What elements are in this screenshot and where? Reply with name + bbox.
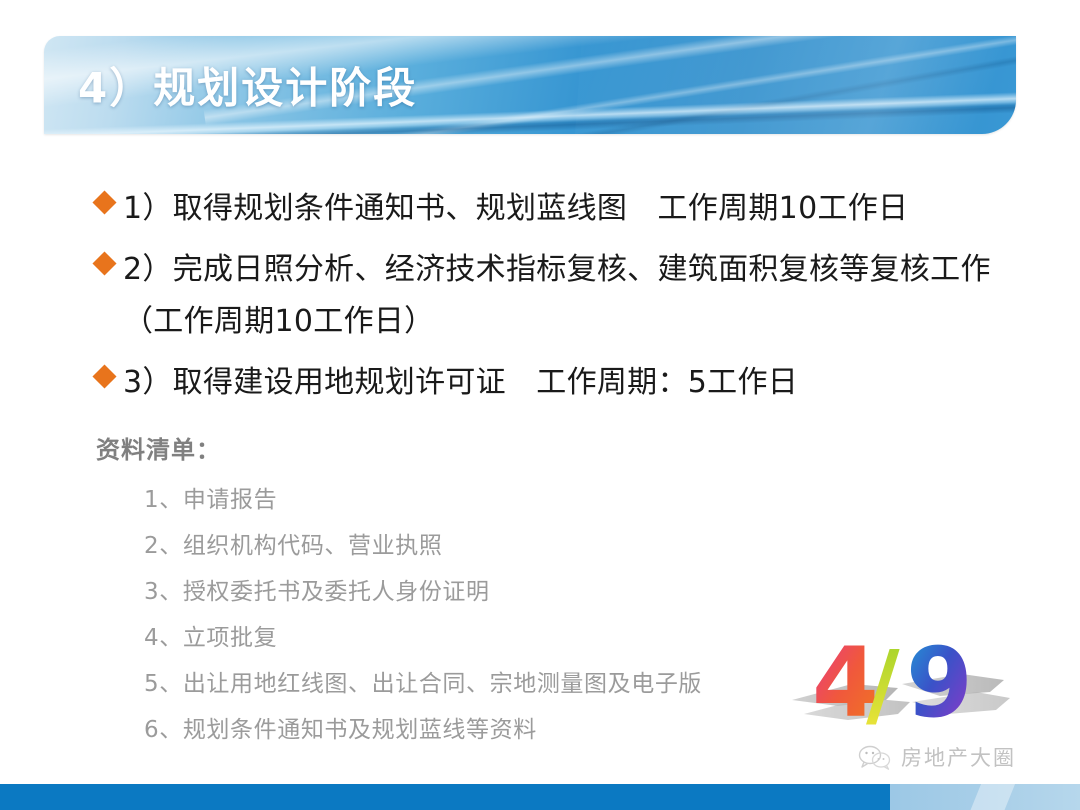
bullet-item: 3）取得建设用地规划许可证 工作周期：5工作日 bbox=[96, 357, 1006, 409]
bullet-text: 2）完成日照分析、经济技术指标复核、建筑面积复核等复核工作（工作周期10工作日） bbox=[123, 244, 1006, 348]
checklist-item: 3、授权委托书及委托人身份证明 bbox=[144, 569, 916, 615]
checklist-item: 2、组织机构代码、营业执照 bbox=[144, 523, 916, 569]
bullet-text: 3）取得建设用地规划许可证 工作周期：5工作日 bbox=[123, 357, 1006, 409]
brand-logo: 4 / 9 bbox=[790, 636, 1010, 746]
logo-49-glyphs: 4 / 9 bbox=[810, 636, 1000, 728]
checklist-heading: 资料清单： bbox=[96, 430, 916, 465]
page-title: 4）规划设计阶段 bbox=[78, 55, 417, 116]
svg-text:/: / bbox=[866, 636, 900, 728]
checklist-item: 1、申请报告 bbox=[144, 477, 916, 523]
title-banner: 4）规划设计阶段 bbox=[44, 36, 1016, 134]
diamond-bullet-icon bbox=[92, 364, 116, 388]
bullet-list: 1）取得规划条件通知书、规划蓝线图 工作周期10工作日 2）完成日照分析、经济技… bbox=[96, 183, 1006, 418]
diamond-bullet-icon bbox=[92, 190, 116, 214]
bottom-bar bbox=[0, 784, 1080, 810]
diamond-bullet-icon bbox=[92, 251, 116, 275]
wechat-icon bbox=[858, 744, 892, 770]
wechat-footer: 房地产大圈 bbox=[858, 742, 1016, 772]
svg-text:9: 9 bbox=[906, 636, 973, 728]
banner-streak-dark bbox=[342, 36, 1016, 134]
slide-canvas: 4）规划设计阶段 1）取得规划条件通知书、规划蓝线图 工作周期10工作日 2）完… bbox=[0, 0, 1080, 810]
bullet-item: 1）取得规划条件通知书、规划蓝线图 工作周期10工作日 bbox=[96, 183, 1006, 235]
banner-streak-diagonal bbox=[574, 36, 1016, 134]
bottom-bar-primary bbox=[0, 784, 890, 810]
wechat-account-name: 房地产大圈 bbox=[901, 742, 1016, 772]
bullet-text: 1）取得规划条件通知书、规划蓝线图 工作周期10工作日 bbox=[123, 183, 1006, 235]
bullet-item: 2）完成日照分析、经济技术指标复核、建筑面积复核等复核工作（工作周期10工作日） bbox=[96, 244, 1006, 348]
